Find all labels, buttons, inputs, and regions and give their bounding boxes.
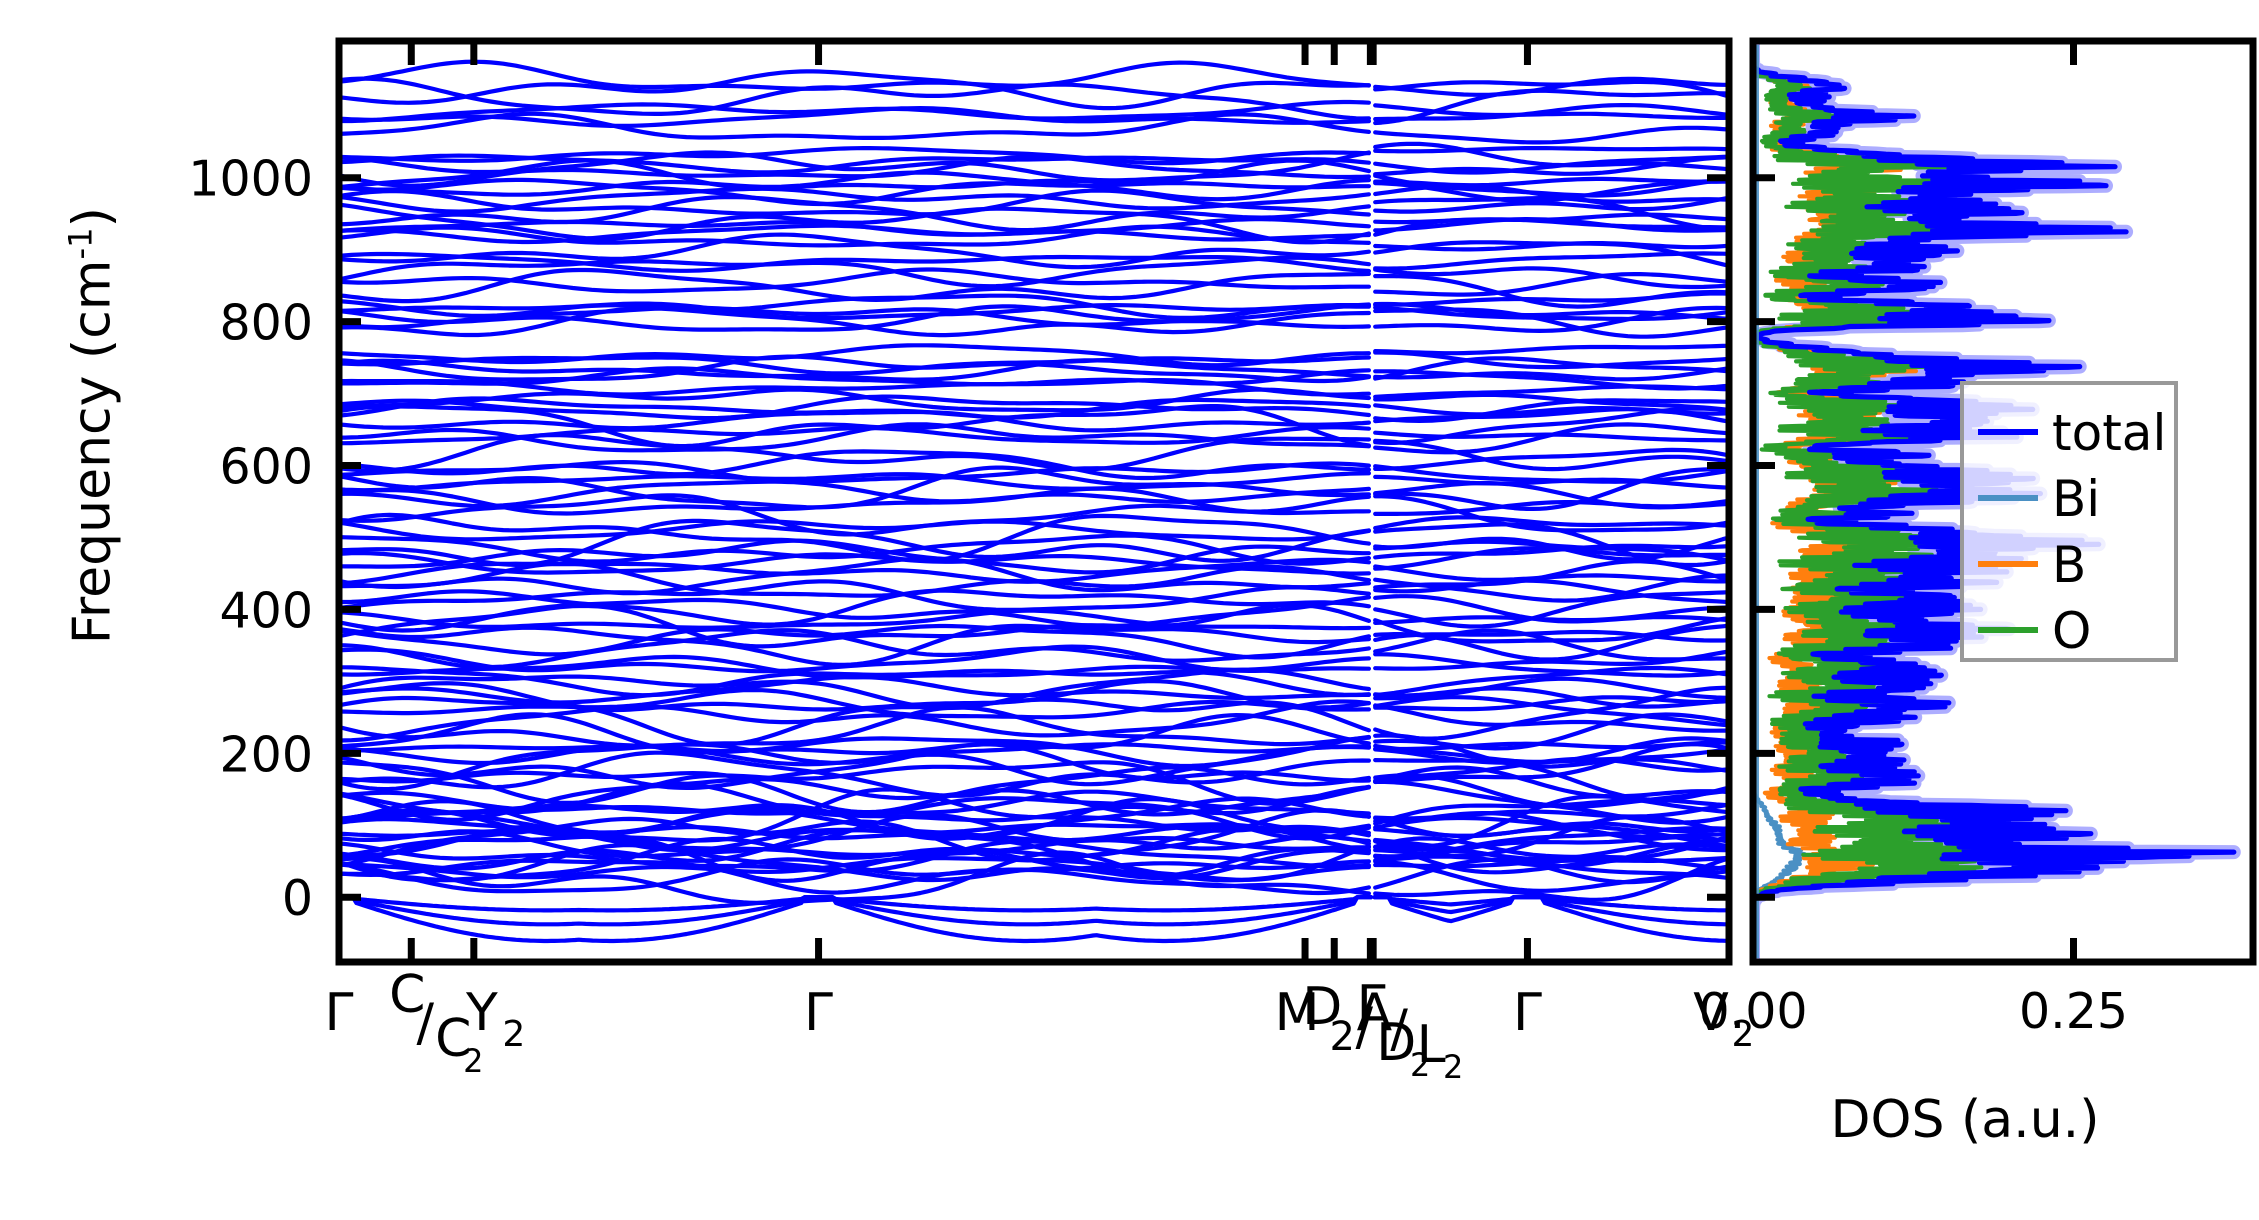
svg-text:/: / (417, 993, 435, 1053)
svg-text:Γ: Γ (1357, 975, 1386, 1035)
legend-label: O (2052, 602, 2091, 660)
dos-x-tick-label: 0.25 (2019, 983, 2128, 1040)
svg-text:L: L (1417, 1015, 1446, 1075)
kpath-label: Γ (325, 983, 354, 1043)
dos-x-axis-label: DOS (a.u.) (1750, 1090, 2180, 1150)
band-branch (1375, 253, 1729, 268)
figure-canvas: 10008006004002000 ΓC/C2Y2ΓMD2/D2AΓ/L2ΓV2… (0, 0, 2259, 1220)
kpath-labels: ΓC/C2Y2ΓMD2/D2AΓ/L2ΓV2 (325, 965, 1755, 1086)
y-tick-label: 800 (219, 295, 313, 352)
band-branch (1375, 148, 1729, 151)
y-tick-label: 200 (219, 726, 313, 783)
legend-label: total (2052, 404, 2166, 462)
dos-x-tick-label: 0.00 (1698, 983, 1807, 1040)
y-tick-label: 600 (219, 439, 313, 496)
band-branch (339, 270, 1369, 292)
dos-legend: totalBiBO (1962, 383, 2176, 660)
svg-text:Y: Y (465, 983, 498, 1043)
svg-text:Γ: Γ (1513, 983, 1542, 1043)
svg-text:Γ: Γ (325, 983, 354, 1043)
y-tick-label: 400 (219, 582, 313, 639)
svg-text:Γ: Γ (804, 983, 833, 1043)
kpath-label: Γ (1513, 983, 1542, 1043)
legend-label: B (2052, 536, 2086, 594)
band-branch (1375, 128, 1729, 143)
dos-x-tick-labels: 0.000.25 (1698, 983, 2128, 1040)
svg-text:2: 2 (502, 1014, 525, 1055)
kpath-label: Γ (804, 983, 833, 1043)
y-axis-label: Frequency (cm-1) (61, 106, 122, 746)
svg-text:2: 2 (1443, 1048, 1463, 1086)
legend-label: Bi (2052, 470, 2100, 528)
band-branch (1375, 346, 1729, 353)
band-branch (339, 427, 1369, 443)
y-tick-label: 0 (282, 870, 313, 927)
svg-text:2: 2 (1330, 1014, 1355, 1060)
phonon-figure: Frequency (cm-1) DOS (a.u.) 100080060040… (0, 0, 2259, 1220)
y-tick-label: 1000 (188, 151, 313, 208)
band-curves-group (339, 62, 1729, 941)
svg-text:2: 2 (463, 1042, 483, 1080)
svg-text:/: / (1390, 999, 1408, 1059)
